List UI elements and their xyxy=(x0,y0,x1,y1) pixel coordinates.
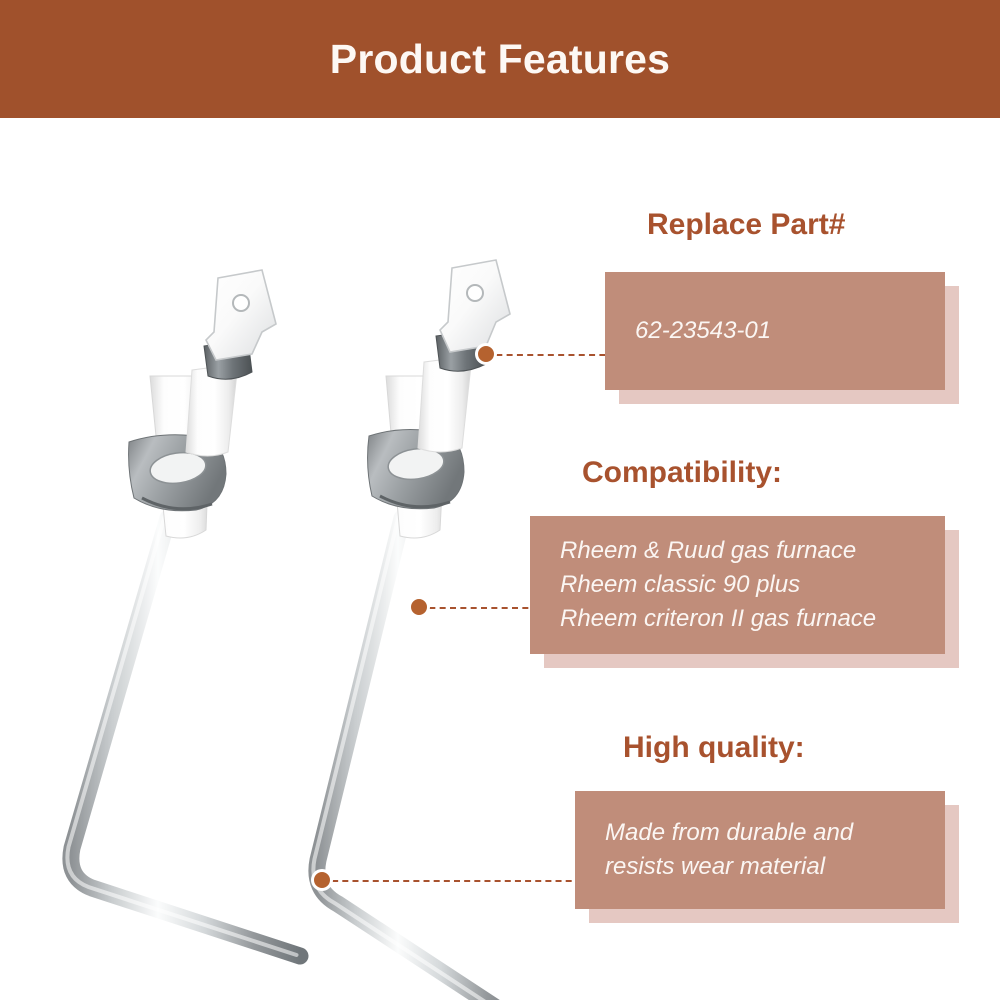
igniter-left-spade-terminal xyxy=(206,270,276,360)
igniter-right-terminal-hole xyxy=(467,285,483,301)
callout-dot-high-quality xyxy=(311,869,333,891)
quality-line: resists wear material xyxy=(605,850,915,884)
compatibility-line: Rheem & Ruud gas furnace xyxy=(560,534,915,568)
callout-heading-compatibility: Compatibility: xyxy=(582,458,945,488)
callout-heading-replace-part: Replace Part# xyxy=(647,210,945,240)
product-image xyxy=(0,118,600,1000)
igniter-right xyxy=(313,260,530,1000)
igniter-right-spade-terminal xyxy=(440,260,510,352)
card-compatibility: Rheem & Ruud gas furnace Rheem classic 9… xyxy=(530,516,945,654)
card-body: Made from durable and resists wear mater… xyxy=(575,791,945,909)
compatibility-line: Rheem classic 90 plus xyxy=(560,568,915,602)
callout-compatibility: Compatibility: Rheem & Ruud gas furnace … xyxy=(530,458,945,654)
header-bar: Product Features xyxy=(0,0,1000,118)
callout-heading-high-quality: High quality: xyxy=(623,733,945,763)
callout-dot-replace-part xyxy=(475,343,497,365)
igniter-right-rod xyxy=(317,518,530,1000)
callout-dot-compatibility xyxy=(408,596,430,618)
card-body: Rheem & Ruud gas furnace Rheem classic 9… xyxy=(530,516,945,654)
igniter-left xyxy=(67,270,300,956)
leader-line-high-quality xyxy=(322,880,592,882)
card-body: 62-23543-01 xyxy=(605,272,945,390)
igniter-left-terminal-hole xyxy=(233,295,249,311)
callout-replace-part: Replace Part# 62-23543-01 xyxy=(605,210,945,390)
content-area: Replace Part# 62-23543-01 Compatibility:… xyxy=(0,118,1000,1000)
part-number-value: 62-23543-01 xyxy=(635,314,915,348)
compatibility-line: Rheem criteron II gas furnace xyxy=(560,602,915,636)
card-high-quality: Made from durable and resists wear mater… xyxy=(575,791,945,909)
page-title: Product Features xyxy=(330,36,670,83)
card-replace-part: 62-23543-01 xyxy=(605,272,945,390)
igniter-left-rod-highlight xyxy=(67,517,296,955)
callout-high-quality: High quality: Made from durable and resi… xyxy=(575,733,945,909)
igniter-left-rod xyxy=(71,518,300,956)
quality-line: Made from durable and xyxy=(605,816,915,850)
